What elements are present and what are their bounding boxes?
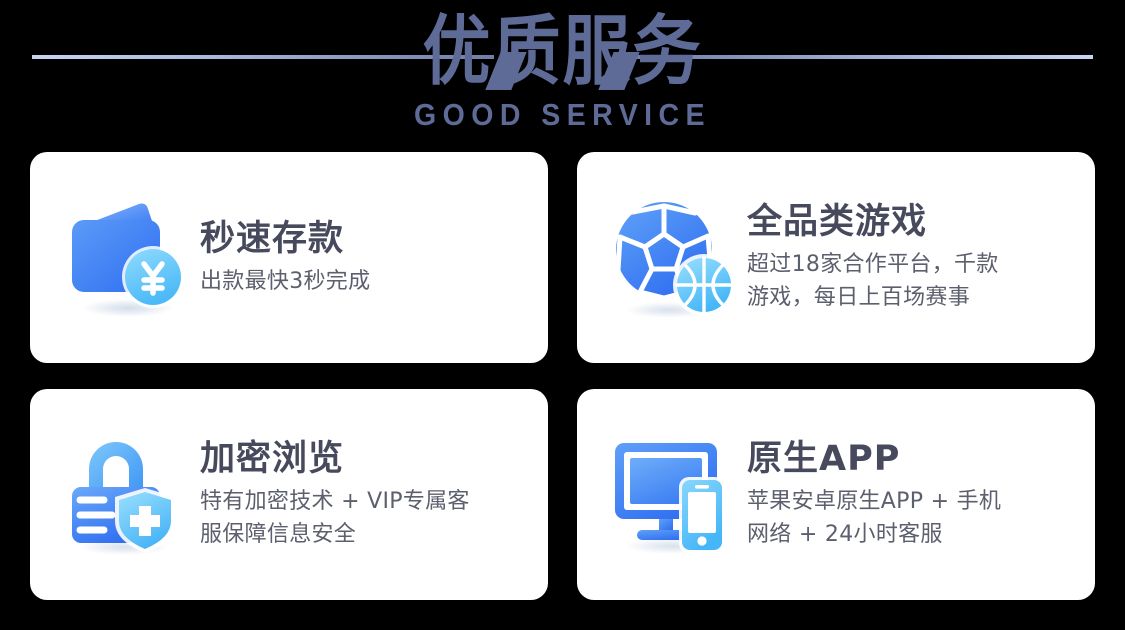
lock-shield-icon <box>60 429 192 561</box>
feature-card-text: 加密浏览 特有加密技术 + VIP专属客 服保障信息安全 <box>192 438 530 551</box>
feature-card-text: 全品类游戏 超过18家合作平台，千款 游戏，每日上百场赛事 <box>739 201 1077 314</box>
feature-card-subtitle: 特有加密技术 + VIP专属客 服保障信息安全 <box>200 485 530 551</box>
feature-card-deposit[interactable]: 秒速存款 出款最快3秒完成 <box>30 152 548 363</box>
feature-card-grid: 秒速存款 出款最快3秒完成 <box>30 152 1095 600</box>
soccer-basketball-icon <box>607 192 739 324</box>
feature-card-games[interactable]: 全品类游戏 超过18家合作平台，千款 游戏，每日上百场赛事 <box>577 152 1095 363</box>
monitor-phone-icon <box>607 429 739 561</box>
page-header: 优质服务 GOOD SERVICE <box>0 0 1125 145</box>
feature-card-text: 原生APP 苹果安卓原生APP + 手机 网络 + 24小时客服 <box>739 438 1077 551</box>
feature-card-subtitle: 出款最快3秒完成 <box>200 265 530 298</box>
feature-card-text: 秒速存款 出款最快3秒完成 <box>192 218 530 298</box>
feature-card-title: 全品类游戏 <box>747 201 1077 243</box>
feature-card-title: 加密浏览 <box>200 438 530 480</box>
feature-card-subtitle: 超过18家合作平台，千款 游戏，每日上百场赛事 <box>747 248 1077 314</box>
feature-card-title: 原生APP <box>747 438 1077 480</box>
page-subtitle-en: GOOD SERVICE <box>45 98 1080 132</box>
feature-card-title: 秒速存款 <box>200 218 530 260</box>
page-title: 优质服务 <box>0 6 1125 100</box>
feature-card-encryption[interactable]: 加密浏览 特有加密技术 + VIP专属客 服保障信息安全 <box>30 389 548 600</box>
feature-card-native-app[interactable]: 原生APP 苹果安卓原生APP + 手机 网络 + 24小时客服 <box>577 389 1095 600</box>
wallet-yen-icon <box>60 192 192 324</box>
feature-card-subtitle: 苹果安卓原生APP + 手机 网络 + 24小时客服 <box>747 485 1077 551</box>
